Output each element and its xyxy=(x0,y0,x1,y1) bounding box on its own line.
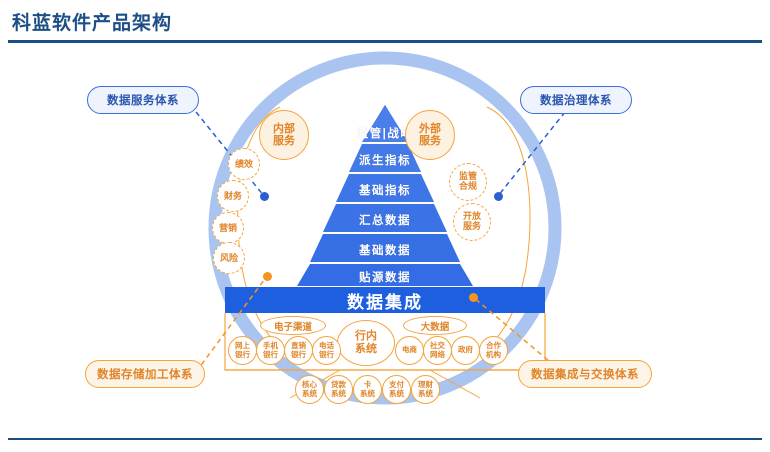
leader-dot-data-integration xyxy=(469,293,478,302)
pyramid-layer-4-label: 汇总数据 xyxy=(0,212,770,228)
leader-dot-data-service xyxy=(260,192,269,201)
core-system-line1: 行内 xyxy=(355,330,377,342)
phone-bank-line2: 银行 xyxy=(319,350,334,359)
pyramid-layer-5-label: 基础数据 xyxy=(0,242,770,258)
core-system-line2: 系统 xyxy=(355,343,377,355)
circle-performance: 绩效 xyxy=(228,148,260,180)
mobile-bank-line2: 银行 xyxy=(263,350,278,359)
wealth-sys-line2: 系统 xyxy=(418,389,433,398)
external-service-line2: 服务 xyxy=(419,135,441,147)
data-integration-label-wrap: 数据集成 xyxy=(225,287,545,313)
circle-loan-sys: 贷款系统 xyxy=(324,375,353,404)
slide-canvas: 科蓝软件产品架构 数据标准管理 数 xyxy=(0,0,770,452)
government-line1: 政府 xyxy=(458,345,473,354)
circle-social-network: 社交网络 xyxy=(423,336,452,365)
pyramid-layer-1-label: 监管|战略 xyxy=(0,125,770,141)
ecommerce-line1: 电商 xyxy=(402,345,417,354)
leader-dot-data-storage xyxy=(263,272,272,281)
circle-direct-bank: 直销银行 xyxy=(284,336,313,365)
reg-compliance-line1: 监管 xyxy=(459,171,477,181)
circle-card-sys: 卡系统 xyxy=(353,375,382,404)
pyramid-layer-6-label: 贴源数据 xyxy=(0,269,770,285)
callout-data-storage-processing-system[interactable]: 数据存储加工体系 xyxy=(85,360,205,388)
circle-core-sys: 核心系统 xyxy=(295,375,324,404)
circle-internal-service: 内部服务 xyxy=(259,110,309,160)
internal-service-line2: 服务 xyxy=(273,135,295,147)
group-title-core-system: 行内系统 xyxy=(337,320,395,366)
callout-data-governance-system[interactable]: 数据治理体系 xyxy=(520,86,632,114)
internal-service-line1: 内部 xyxy=(273,123,295,135)
circle-risk: 风险 xyxy=(213,242,245,274)
open-service-line1: 开放 xyxy=(463,211,481,221)
circle-wealth-sys: 理财系统 xyxy=(411,375,440,404)
card-sys-line2: 系统 xyxy=(360,389,375,398)
circle-online-bank: 网上银行 xyxy=(228,336,257,365)
loan-sys-line2: 系统 xyxy=(331,389,346,398)
partner-org-line2: 机构 xyxy=(486,350,501,359)
circle-marketing: 营销 xyxy=(212,212,244,244)
group-title-big-data: 大数据 xyxy=(403,316,467,335)
pyramid-layer-2-label: 派生指标 xyxy=(0,152,770,168)
callout-data-integration-exchange-system[interactable]: 数据集成与交换体系 xyxy=(518,360,652,388)
circle-regulatory-compliance: 监管合规 xyxy=(449,163,487,201)
circle-mobile-bank: 手机银行 xyxy=(256,336,285,365)
circle-payment-sys: 支付系统 xyxy=(382,375,411,404)
callout-data-service-system[interactable]: 数据服务体系 xyxy=(87,86,199,114)
circle-partner-org: 合作机构 xyxy=(479,336,508,365)
core-sys-line2: 系统 xyxy=(302,389,317,398)
reg-compliance-line2: 合规 xyxy=(459,181,477,191)
data-integration-label: 数据集成 xyxy=(225,287,545,313)
group-title-e-channel: 电子渠道 xyxy=(260,316,326,335)
external-service-line1: 外部 xyxy=(419,123,441,135)
open-service-line2: 服务 xyxy=(463,221,481,231)
circle-ecommerce: 电商 xyxy=(395,336,424,365)
online-bank-line2: 银行 xyxy=(235,350,250,359)
circle-government: 政府 xyxy=(451,336,480,365)
payment-sys-line2: 系统 xyxy=(389,389,404,398)
direct-bank-line2: 银行 xyxy=(291,350,306,359)
social-network-line2: 网络 xyxy=(430,350,445,359)
circle-open-service: 开放服务 xyxy=(453,203,491,241)
circle-external-service: 外部服务 xyxy=(405,110,455,160)
circle-phone-bank: 电话银行 xyxy=(312,336,341,365)
circle-finance: 财务 xyxy=(217,180,249,212)
pyramid-layer-3-label: 基础指标 xyxy=(0,182,770,198)
leader-dot-data-governance xyxy=(494,192,503,201)
